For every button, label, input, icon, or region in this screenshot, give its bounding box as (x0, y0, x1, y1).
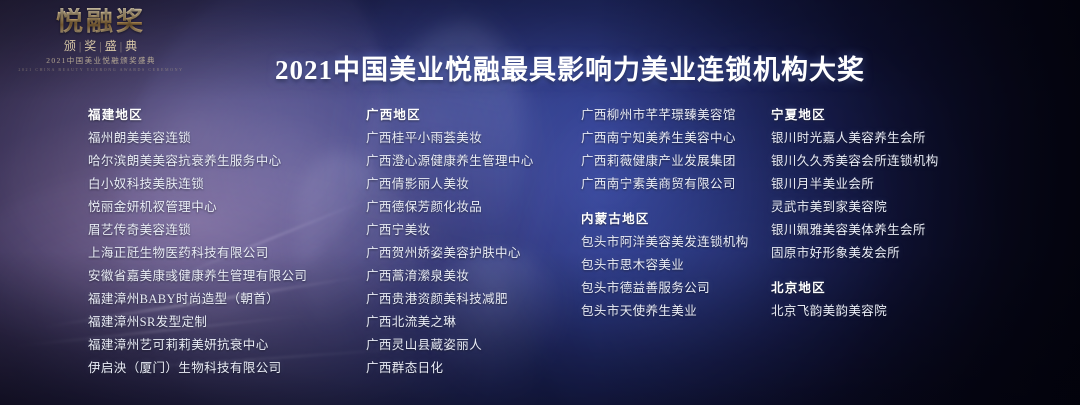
award-entry: 广西灵山县蔵姿丽人 (366, 334, 581, 357)
award-entry: 上海正瓩生物医药科技有限公司 (88, 242, 366, 265)
award-entry: 广西蒿淯瀠泉美妆 (366, 265, 581, 288)
award-entry: 广西莉薇健康产业发展集团 (581, 150, 771, 173)
award-entry: 安徽省嘉美康彧健康养生管理有限公司 (88, 265, 366, 288)
region-heading: 福建地区 (88, 104, 366, 127)
region-heading: 宁夏地区 (771, 104, 986, 127)
award-entry: 银川时光嘉人美容养生会所 (771, 127, 986, 150)
award-entry: 包头市德益善服务公司 (581, 277, 771, 300)
award-entry: 广西南宁知美养生美容中心 (581, 127, 771, 150)
column-fujian: 福建地区福州朗美美容连锁哈尔滨朗美美容抗衰养生服务中心白小奴科技美肤连锁悦丽金妍… (88, 104, 366, 380)
award-entry: 福州朗美美容连锁 (88, 127, 366, 150)
award-entry: 广西贺州娇姿美容护肤中心 (366, 242, 581, 265)
award-entry: 广西德保芳颜化妆品 (366, 196, 581, 219)
column-ningxia-beijing: 宁夏地区银川时光嘉人美容养生会所银川久久秀美容会所连锁机构银川月半美业会所灵武市… (771, 104, 986, 380)
award-entry: 包头市天使养生美业 (581, 300, 771, 323)
award-entry: 福建漳州BABY时尚造型（朝首） (88, 288, 366, 311)
award-entry: 固原市好形象美发会所 (771, 242, 986, 265)
column-guangxi-1: 广西地区广西桂平小雨荟美妆广西澄心源健康养生管理中心广西倩影丽人美妆广西德保芳颜… (366, 104, 581, 380)
logo-title: 悦融奖 (16, 8, 186, 35)
award-entry: 广西宁美妆 (366, 219, 581, 242)
award-entry: 福建漳州艺可莉莉美妍抗衰中心 (88, 334, 366, 357)
award-entry: 包头市阿洋美容美发连锁机构 (581, 231, 771, 254)
award-entry: 白小奴科技美肤连锁 (88, 173, 366, 196)
award-entry: 包头市思木容美业 (581, 254, 771, 277)
award-entry: 哈尔滨朗美美容抗衰养生服务中心 (88, 150, 366, 173)
block-spacer (771, 265, 986, 277)
award-entry: 广西群态日化 (366, 357, 581, 380)
award-entry: 北京飞韵美韵美容院 (771, 300, 986, 323)
award-entry: 银川久久秀美容会所连锁机构 (771, 150, 986, 173)
region-heading: 北京地区 (771, 277, 986, 300)
award-entry: 灵武市美到家美容院 (771, 196, 986, 219)
award-entry: 银川姵雅美容美体养生会所 (771, 219, 986, 242)
award-entry: 银川月半美业会所 (771, 173, 986, 196)
award-columns: 福建地区福州朗美美容连锁哈尔滨朗美美容抗衰养生服务中心白小奴科技美肤连锁悦丽金妍… (88, 104, 1048, 380)
region-heading: 广西地区 (366, 104, 581, 127)
award-entry: 广西南宁素美商贸有限公司 (581, 173, 771, 196)
block-spacer (581, 196, 771, 208)
region-heading: 内蒙古地区 (581, 208, 771, 231)
award-entry: 伊启泱（厦门）生物科技有限公司 (88, 357, 366, 380)
award-entry: 广西桂平小雨荟美妆 (366, 127, 581, 150)
award-entry: 广西倩影丽人美妆 (366, 173, 581, 196)
award-entry: 悦丽金妍机衩管理中心 (88, 196, 366, 219)
award-entry: 广西澄心源健康养生管理中心 (366, 150, 581, 173)
award-entry: 广西柳州市芊芊璟臻美容馆 (581, 104, 771, 127)
award-entry: 眉艺传奇美容连锁 (88, 219, 366, 242)
page-title: 2021中国美业悦融最具影响力美业连锁机构大奖 (0, 48, 1080, 87)
award-entry: 福建漳州SR发型定制 (88, 311, 366, 334)
award-entry: 广西北流美之琳 (366, 311, 581, 334)
column-guangxi-2-neimenggu: 广西柳州市芊芊璟臻美容馆广西南宁知美养生美容中心广西莉薇健康产业发展集团广西南宁… (581, 104, 771, 380)
award-banner: 悦融奖 颁|奖|盛|典 2021中国美业悦融颁奖盛典 2021 CHINA BE… (0, 0, 1080, 405)
award-entry: 广西贵港资颜美科技减肥 (366, 288, 581, 311)
